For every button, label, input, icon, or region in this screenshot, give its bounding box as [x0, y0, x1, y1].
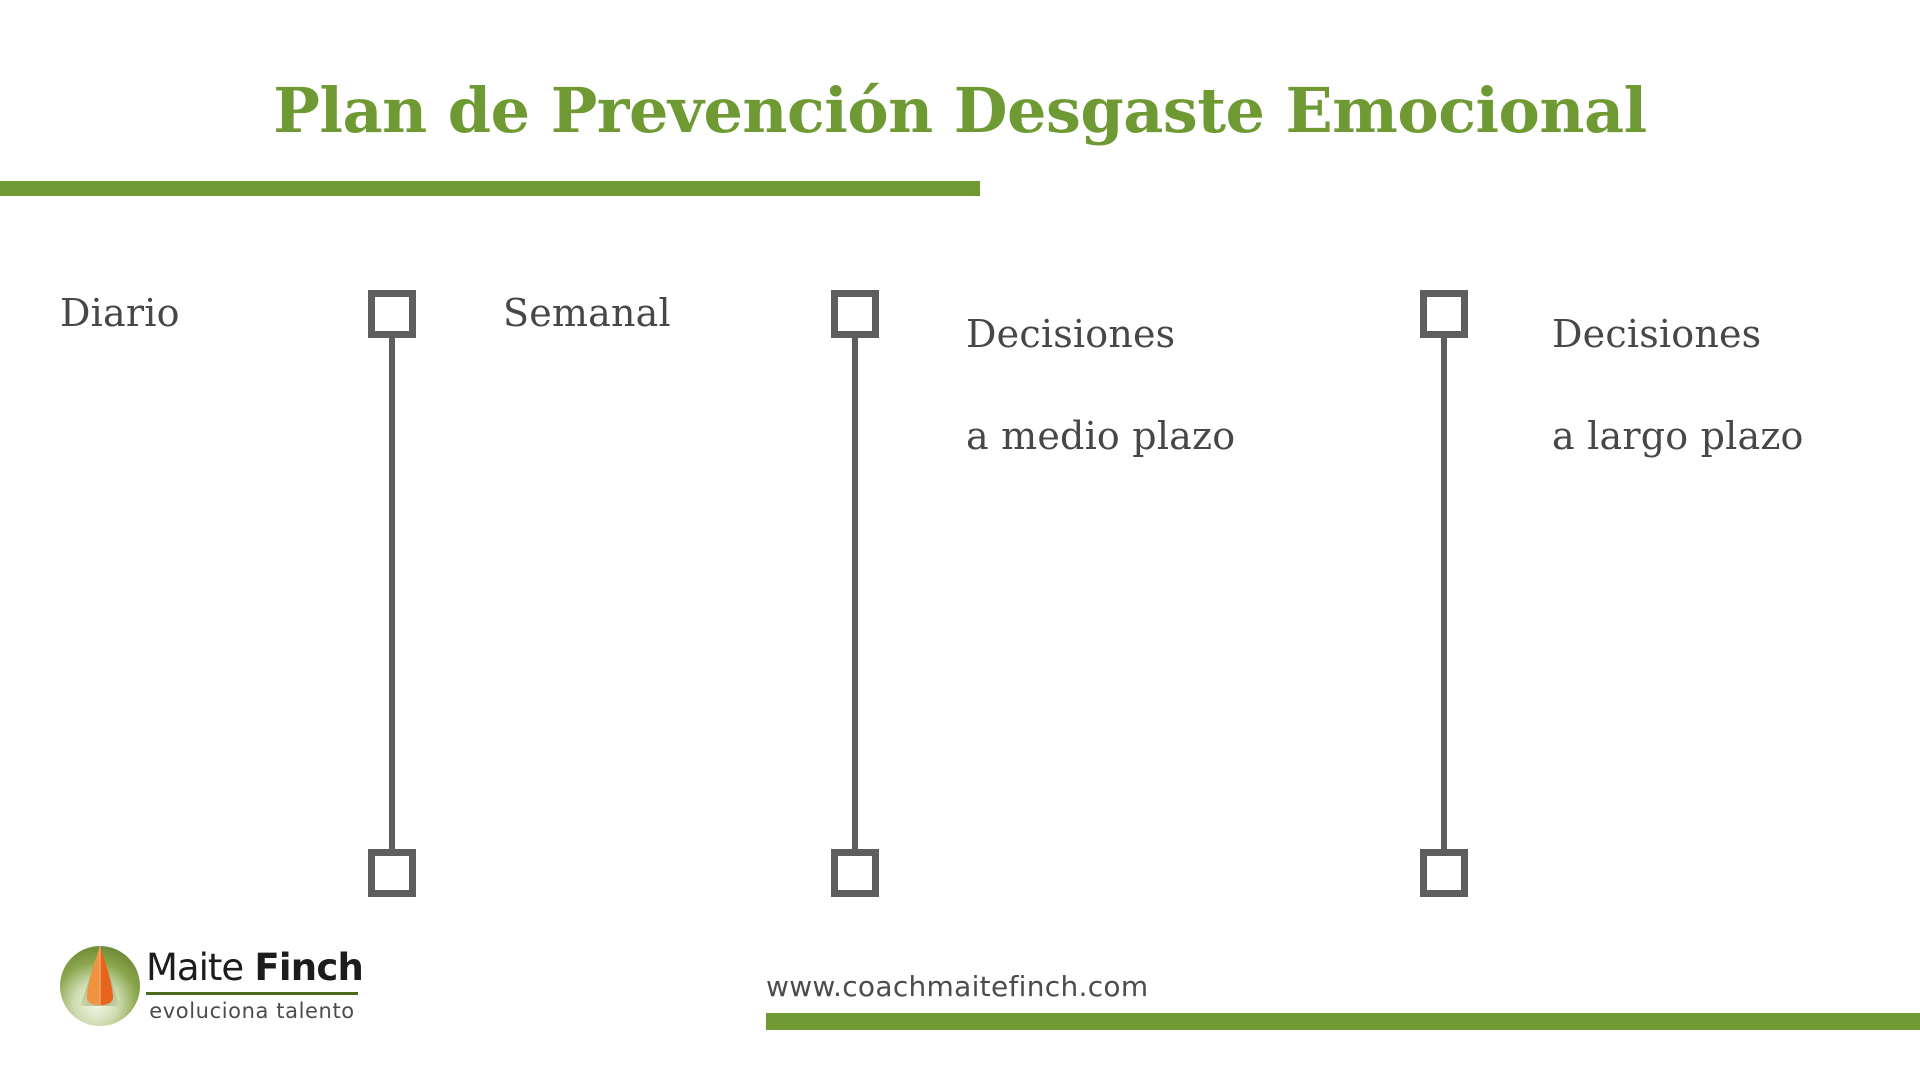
timeline-label-line-2: a medio plazo: [966, 411, 1235, 462]
timeline-stem-2: [852, 334, 858, 852]
logo-name-light: Maite: [146, 946, 243, 989]
top-accent-bar: [0, 181, 980, 196]
timeline-label-decisiones-medio-plazo: Decisiones a medio plazo: [966, 258, 1235, 513]
slide-canvas: Plan de Prevención Desgaste Emocional Di…: [0, 0, 1920, 1080]
timeline-marker-top-3[interactable]: [1420, 290, 1468, 338]
logo-name-bold: Finch: [254, 946, 363, 989]
bottom-accent-bar: [766, 1013, 1920, 1030]
timeline-marker-bottom-2[interactable]: [831, 849, 879, 897]
logo-divider: [146, 992, 358, 995]
timeline-label-line-1: Decisiones: [1552, 309, 1804, 360]
timeline-label-semanal: Semanal: [503, 288, 671, 339]
timeline-stem-3: [1441, 334, 1447, 852]
logo-name: Maite Finch: [146, 946, 361, 990]
timeline-label-diario: Diario: [60, 288, 180, 339]
maite-finch-logomark-icon: [58, 944, 142, 1028]
timeline-label-line-1: Decisiones: [966, 309, 1235, 360]
timeline-stem-1: [389, 334, 395, 852]
timeline-marker-bottom-1[interactable]: [368, 849, 416, 897]
timeline-label-line-2: a largo plazo: [1552, 411, 1804, 462]
logo[interactable]: Maite Finch evoluciona talento: [58, 944, 363, 1032]
timeline-marker-top-1[interactable]: [368, 290, 416, 338]
timeline-label-decisiones-largo-plazo: Decisiones a largo plazo: [1552, 258, 1804, 513]
logo-wordmark: Maite Finch evoluciona talento: [146, 946, 361, 1023]
timeline-marker-top-2[interactable]: [831, 290, 879, 338]
logo-tagline: evoluciona talento: [146, 999, 358, 1023]
website-url[interactable]: www.coachmaitefinch.com: [766, 970, 1148, 1003]
page-title: Plan de Prevención Desgaste Emocional: [0, 76, 1920, 145]
timeline-marker-bottom-3[interactable]: [1420, 849, 1468, 897]
